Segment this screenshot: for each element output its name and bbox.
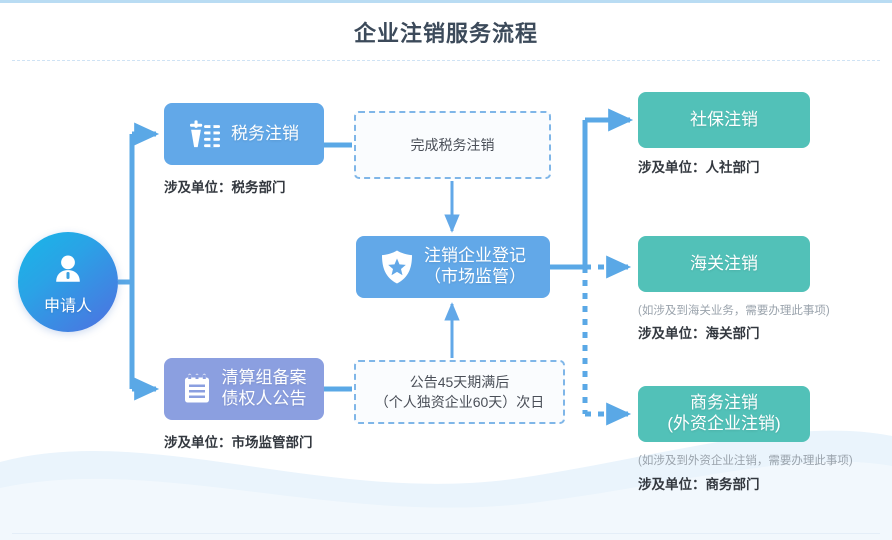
caption-human-resources-department: 涉及单位：人社部门 bbox=[638, 156, 760, 176]
gate-publication-line2: （个人独资企业60天）次日 bbox=[375, 394, 545, 410]
page-title: 企业注销服务流程 bbox=[0, 16, 892, 48]
caption-commerce-department: 涉及单位：商务部门 bbox=[638, 473, 760, 493]
bottom-divider bbox=[12, 533, 880, 534]
node-commerce-label: 商务注销 (外资企业注销) bbox=[667, 393, 780, 434]
shield-star-icon bbox=[380, 249, 414, 285]
gate-tax-completed-label: 完成税务注销 bbox=[411, 135, 495, 155]
node-tax-cancellation[interactable]: 税务注销 bbox=[164, 103, 324, 165]
gate-tax-completed: 完成税务注销 bbox=[354, 111, 551, 179]
gate-publication-period: 公告45天期满后 （个人独资企业60天）次日 bbox=[354, 360, 565, 424]
tax-character-icon bbox=[189, 119, 221, 149]
node-commerce-line1: 商务注销 bbox=[690, 393, 758, 412]
note-customs-condition: (如涉及到海关业务，需要办理此事项) bbox=[638, 302, 830, 318]
node-registration-line1: 注销企业登记 bbox=[424, 246, 526, 265]
node-commerce-line2: (外资企业注销) bbox=[667, 414, 780, 433]
node-customs-cancellation[interactable]: 海关注销 bbox=[638, 236, 810, 292]
notepad-icon bbox=[182, 373, 212, 405]
gate-publication-line1: 公告45天期满后 bbox=[410, 374, 510, 390]
flowchart-canvas: 企业注销服务流程 bbox=[0, 0, 892, 540]
header-divider bbox=[12, 60, 880, 61]
node-social-label: 社保注销 bbox=[690, 110, 758, 131]
node-liquidation-line2: 债权人公告 bbox=[222, 389, 307, 408]
node-registration-label: 注销企业登记 （市场监管） bbox=[424, 246, 526, 287]
node-enterprise-deregistration[interactable]: 注销企业登记 （市场监管） bbox=[356, 236, 550, 298]
node-liquidation-filing[interactable]: 清算组备案 债权人公告 bbox=[164, 358, 324, 420]
caption-tax-department: 涉及单位：税务部门 bbox=[164, 176, 286, 196]
applicant-node[interactable]: 申请人 bbox=[18, 232, 118, 332]
note-commerce-condition: (如涉及到外资企业注销，需要办理此事项) bbox=[638, 452, 853, 468]
person-icon bbox=[51, 252, 85, 291]
top-accent-bar bbox=[0, 0, 892, 3]
node-tax-label: 税务注销 bbox=[231, 124, 299, 145]
caption-customs-department: 涉及单位：海关部门 bbox=[638, 322, 760, 342]
node-commerce-cancellation[interactable]: 商务注销 (外资企业注销) bbox=[638, 386, 810, 442]
node-social-insurance-cancellation[interactable]: 社保注销 bbox=[638, 92, 810, 148]
node-customs-label: 海关注销 bbox=[690, 254, 758, 275]
caption-market-regulation-department: 涉及单位：市场监管部门 bbox=[164, 431, 313, 451]
node-registration-line2: （市场监管） bbox=[424, 267, 526, 286]
node-liquidation-label: 清算组备案 债权人公告 bbox=[222, 368, 307, 409]
gate-publication-period-label: 公告45天期满后 （个人独资企业60天）次日 bbox=[375, 372, 545, 413]
applicant-label: 申请人 bbox=[44, 292, 92, 316]
node-liquidation-line1: 清算组备案 bbox=[222, 368, 307, 387]
